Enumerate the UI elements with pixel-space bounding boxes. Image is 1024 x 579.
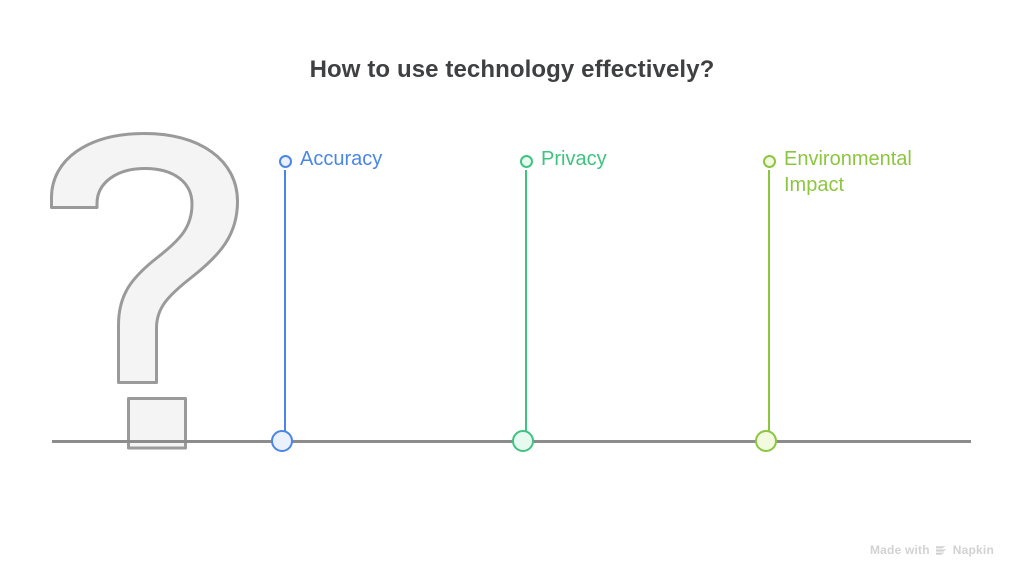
page-title: How to use technology effectively? (0, 56, 1024, 84)
milestone-label: Accuracy (300, 146, 382, 172)
milestone-node-icon[interactable] (512, 430, 534, 452)
diagram-canvas: How to use technology effectively? Accur… (0, 0, 1024, 579)
milestone-stem (525, 170, 527, 442)
milestone-top-dot-icon (520, 155, 533, 168)
watermark-prefix: Made with (870, 543, 930, 557)
milestone-stem (284, 170, 286, 442)
milestone-node-icon[interactable] (755, 430, 777, 452)
milestone-top-dot-icon (763, 155, 776, 168)
question-mark-icon (40, 130, 280, 450)
milestone-top-dot-icon (279, 155, 292, 168)
milestone-stem (768, 170, 770, 442)
milestone-node-icon[interactable] (271, 430, 293, 452)
watermark-brand: Napkin (953, 543, 994, 557)
napkin-watermark: Made with Napkin (870, 543, 994, 557)
milestone-label: Privacy (541, 146, 607, 172)
napkin-chevron-logo-icon (935, 544, 948, 557)
milestone-label: Environmental Impact (784, 146, 912, 198)
